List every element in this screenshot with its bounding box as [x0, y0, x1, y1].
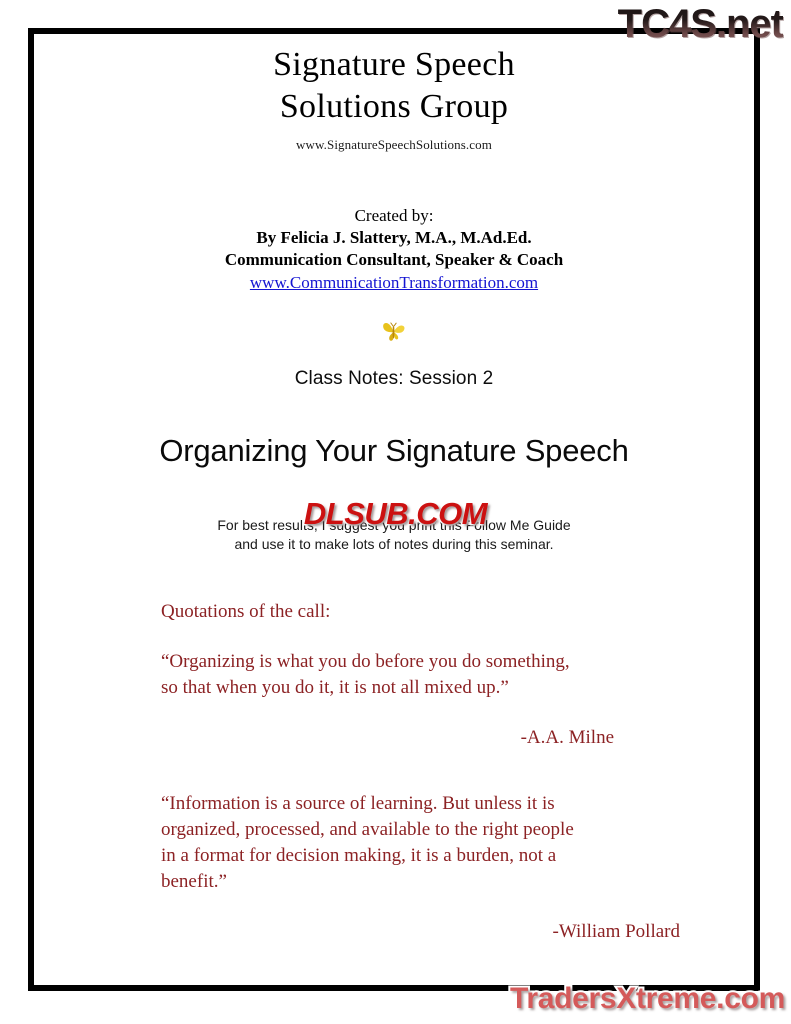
headline-wrap: Organizing Your Signature Speech: [44, 433, 744, 479]
author-website-link[interactable]: www.CommunicationTransformation.com: [250, 271, 538, 294]
quotation-block: “Information is a source of learning. Bu…: [161, 791, 706, 895]
session-line: Class Notes: Session 2: [44, 368, 744, 390]
watermark-bottom-right: TradersXtreme.com: [510, 982, 785, 1016]
organization-title: Signature Speech Solutions Group: [44, 44, 744, 128]
author-role: Communication Consultant, Speaker & Coac…: [44, 249, 744, 271]
butterfly-icon: [381, 320, 407, 344]
quotation-line: in a format for decision making, it is a…: [161, 843, 706, 869]
quotations-section: Quotations of the call: “Organizing is w…: [44, 600, 744, 943]
quotation-line: “Information is a source of learning. Bu…: [161, 791, 706, 817]
byline-block: Created by: By Felicia J. Slattery, M.A.…: [44, 205, 744, 294]
page-title: Organizing Your Signature Speech: [159, 433, 628, 468]
quotation-line: benefit.”: [161, 869, 706, 895]
print-suggestion-note: For best results, I suggest you print th…: [44, 516, 744, 554]
watermark-top-right: TC4S.net: [618, 2, 783, 47]
author-name: By Felicia J. Slattery, M.A., M.Ad.Ed.: [44, 227, 744, 249]
document-content: Signature Speech Solutions Group www.Sig…: [44, 44, 744, 974]
quotations-heading: Quotations of the call:: [161, 600, 706, 624]
quotation-line: so that when you do it, it is not all mi…: [161, 675, 706, 701]
organization-title-line-1: Signature Speech: [44, 44, 744, 86]
quotation-line: “Organizing is what you do before you do…: [161, 649, 706, 675]
quotation-attribution: -A.A. Milne: [161, 727, 706, 749]
created-by-label: Created by:: [44, 205, 744, 227]
print-suggestion-line-2: and use it to make lots of notes during …: [44, 535, 744, 554]
quotation-line: organized, processed, and available to t…: [161, 817, 706, 843]
quotation-block: “Organizing is what you do before you do…: [161, 649, 706, 701]
butterfly-ornament-wrap: [44, 320, 744, 346]
organization-website: www.SignatureSpeechSolutions.com: [44, 137, 744, 153]
document-page: Signature Speech Solutions Group www.Sig…: [0, 0, 791, 1024]
quotation-attribution: -William Pollard: [161, 921, 706, 943]
organization-title-line-2: Solutions Group: [44, 86, 744, 128]
print-suggestion-line-1: For best results, I suggest you print th…: [44, 516, 744, 535]
